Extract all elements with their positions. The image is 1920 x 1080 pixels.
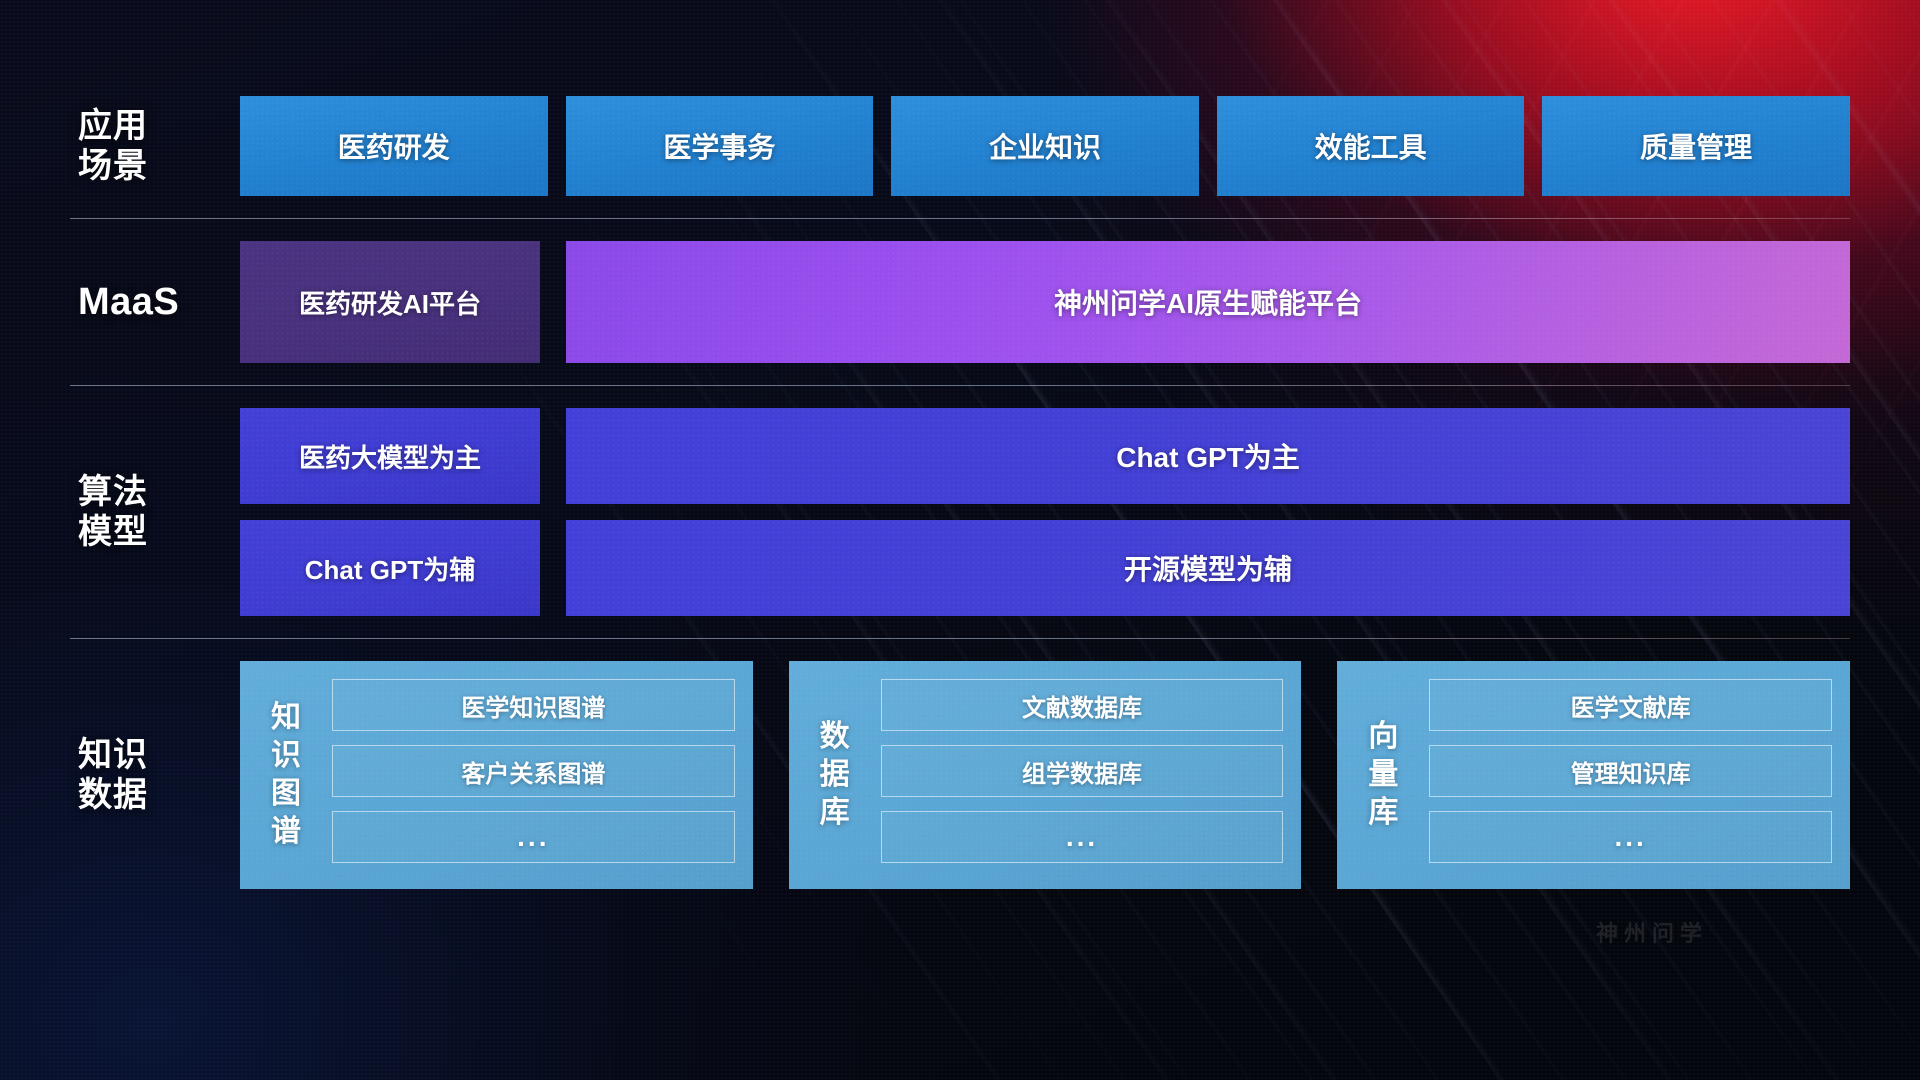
knowledge-item-list: 文献数据库 组学数据库 ... [881, 679, 1284, 871]
row-label-line: 数据 [78, 775, 148, 815]
row-knowledge-data: 知识 数据 知 识 图 谱 医学知识图谱 客户 [70, 661, 1850, 889]
knowledge-item[interactable]: 文献数据库 [881, 679, 1284, 731]
row-label-maas: MaaS [70, 241, 240, 363]
row-label-line: MaaS [78, 280, 179, 325]
app-scenario-card[interactable]: 医药研发 [240, 96, 548, 196]
knowledge-item-more[interactable]: ... [1429, 811, 1832, 863]
title-char: 数 [820, 718, 850, 756]
knowledge-item-more[interactable]: ... [332, 811, 735, 863]
app-scenario-card[interactable]: 企业知识 [891, 96, 1199, 196]
title-char: 库 [1368, 794, 1398, 832]
row-body-knowledge-data: 知 识 图 谱 医学知识图谱 客户关系图谱 ... [240, 661, 1850, 889]
row-body-maas: 医药研发AI平台 神州问学AI原生赋能平台 [240, 241, 1850, 363]
knowledge-card-title-vertical: 向 量 库 [1355, 679, 1411, 871]
title-char: 识 [271, 737, 301, 775]
algorithm-line-primary: 医药大模型为主 Chat GPT为主 [240, 408, 1850, 504]
row-label-line: 模型 [78, 512, 148, 552]
row-label-line: 应用 [78, 106, 148, 146]
maas-platform-pharma[interactable]: 医药研发AI平台 [240, 241, 540, 363]
knowledge-item[interactable]: 医学知识图谱 [332, 679, 735, 731]
algorithm-card-pharma-primary[interactable]: 医药大模型为主 [240, 408, 540, 504]
knowledge-item[interactable]: 管理知识库 [1429, 745, 1832, 797]
algorithm-line-secondary: Chat GPT为辅 开源模型为辅 [240, 520, 1850, 616]
title-char: 图 [271, 775, 301, 813]
row-label-application-scenarios: 应用 场景 [70, 96, 240, 196]
knowledge-card-database[interactable]: 数 据 库 文献数据库 组学数据库 ... [789, 661, 1302, 889]
application-scenario-cells: 医药研发 医学事务 企业知识 效能工具 质量管理 [240, 96, 1850, 196]
knowledge-item[interactable]: 组学数据库 [881, 745, 1284, 797]
row-algorithm-model: 算法 模型 医药大模型为主 Chat GPT为主 Chat GPT为辅 开源模型… [70, 408, 1850, 616]
knowledge-card-knowledge-graph[interactable]: 知 识 图 谱 医学知识图谱 客户关系图谱 ... [240, 661, 753, 889]
knowledge-item[interactable]: 医学文献库 [1429, 679, 1832, 731]
row-label-knowledge-data: 知识 数据 [70, 661, 240, 889]
slide-canvas: 应用 场景 医药研发 医学事务 企业知识 效能工具 质量管理 MaaS [0, 0, 1920, 1080]
app-scenario-card[interactable]: 医学事务 [566, 96, 874, 196]
knowledge-card-title-vertical: 知 识 图 谱 [258, 679, 314, 871]
algorithm-card-opensource-secondary[interactable]: 开源模型为辅 [566, 520, 1850, 616]
row-label-algorithm-model: 算法 模型 [70, 408, 240, 616]
row-divider [70, 218, 1850, 219]
knowledge-item-list: 医学知识图谱 客户关系图谱 ... [332, 679, 735, 871]
architecture-diagram: 应用 场景 医药研发 医学事务 企业知识 效能工具 质量管理 MaaS [70, 96, 1850, 889]
app-scenario-card[interactable]: 效能工具 [1217, 96, 1525, 196]
row-divider [70, 638, 1850, 639]
app-scenario-card[interactable]: 质量管理 [1542, 96, 1850, 196]
row-divider [70, 385, 1850, 386]
algorithm-card-gpt-primary[interactable]: Chat GPT为主 [566, 408, 1850, 504]
knowledge-item[interactable]: 客户关系图谱 [332, 745, 735, 797]
algorithm-card-gpt-secondary[interactable]: Chat GPT为辅 [240, 520, 540, 616]
title-char: 据 [820, 756, 850, 794]
knowledge-card-vector-store[interactable]: 向 量 库 医学文献库 管理知识库 ... [1337, 661, 1850, 889]
title-char: 向 [1368, 718, 1398, 756]
row-body-application-scenarios: 医药研发 医学事务 企业知识 效能工具 质量管理 [240, 96, 1850, 196]
row-maas: MaaS 医药研发AI平台 神州问学AI原生赋能平台 [70, 241, 1850, 363]
row-label-line: 场景 [78, 146, 148, 186]
knowledge-item-more[interactable]: ... [881, 811, 1284, 863]
title-char: 库 [820, 794, 850, 832]
maas-cells: 医药研发AI平台 神州问学AI原生赋能平台 [240, 241, 1850, 363]
knowledge-item-list: 医学文献库 管理知识库 ... [1429, 679, 1832, 871]
title-char: 量 [1368, 756, 1398, 794]
maas-platform-shenzhou[interactable]: 神州问学AI原生赋能平台 [566, 241, 1850, 363]
row-label-line: 算法 [78, 472, 148, 512]
title-char: 知 [271, 699, 301, 737]
row-body-algorithm-model: 医药大模型为主 Chat GPT为主 Chat GPT为辅 开源模型为辅 [240, 408, 1850, 616]
watermark-text: 神州问学 [1596, 916, 1708, 948]
row-application-scenarios: 应用 场景 医药研发 医学事务 企业知识 效能工具 质量管理 [70, 96, 1850, 196]
knowledge-card-title-vertical: 数 据 库 [807, 679, 863, 871]
knowledge-cards: 知 识 图 谱 医学知识图谱 客户关系图谱 ... [240, 661, 1850, 889]
row-label-line: 知识 [78, 735, 148, 775]
title-char: 谱 [271, 813, 301, 851]
